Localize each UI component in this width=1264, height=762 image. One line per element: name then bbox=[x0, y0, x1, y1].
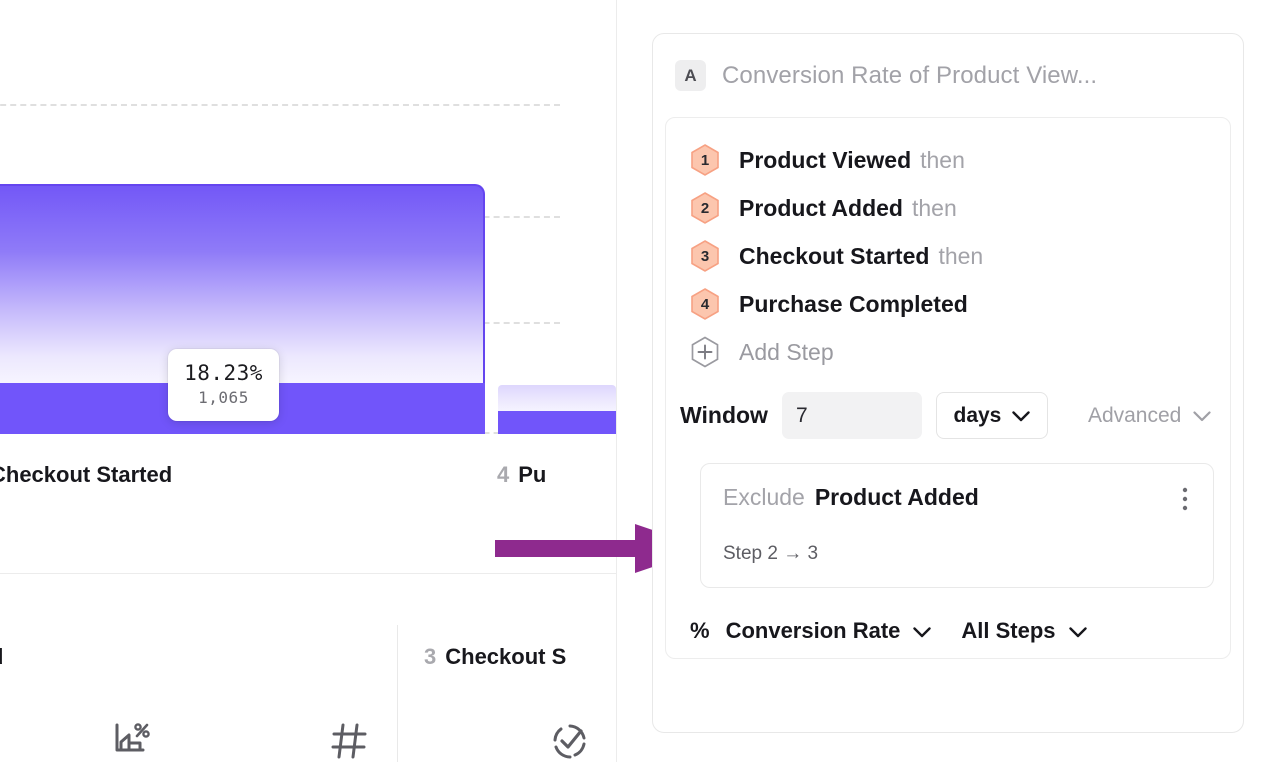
panel-footer-controls: % Conversion Rate All Steps bbox=[666, 588, 1230, 644]
funnel-step-3[interactable]: 3 Checkout Startedthen bbox=[666, 232, 1230, 280]
advanced-label: Advanced bbox=[1088, 404, 1181, 428]
panel-header: A Conversion Rate of Product View... bbox=[653, 34, 1243, 91]
metric-label: Conversion Rate bbox=[726, 618, 901, 644]
bottom-right-step-number: 3 bbox=[424, 644, 436, 669]
step-connector: then bbox=[938, 243, 983, 269]
window-unit-select[interactable]: days bbox=[936, 392, 1048, 439]
add-step-label: Add Step bbox=[739, 339, 834, 366]
step-label: Product Addedthen bbox=[739, 195, 957, 222]
hexagon-plus-icon bbox=[688, 335, 722, 369]
hexagon-step-number-icon: 4 bbox=[688, 287, 722, 321]
bottom-right-label: 3Checkout S bbox=[424, 644, 566, 670]
step-event-name: Product Viewed bbox=[739, 147, 911, 173]
funnel-step-4[interactable]: 4 Purchase Completed bbox=[666, 280, 1230, 328]
step-number: 4 bbox=[701, 297, 709, 312]
chevron-down-icon bbox=[1012, 404, 1030, 428]
step-event-name: Product Added bbox=[739, 195, 903, 221]
gridline-1 bbox=[0, 104, 560, 106]
funnel-step-2[interactable]: 2 Product Addedthen bbox=[666, 184, 1230, 232]
hexagon-step-number-icon: 3 bbox=[688, 239, 722, 273]
bar-gradient-body bbox=[498, 385, 616, 412]
exclude-event-name: Product Added bbox=[815, 484, 979, 511]
funnel-chart-region: 18.23% 1,065 Checkout Started 4Pu d 3Che… bbox=[0, 0, 616, 762]
step-number: 1 bbox=[701, 153, 709, 168]
funnel-bar-purchase-completed[interactable] bbox=[498, 385, 616, 434]
funnel-percent-icon[interactable] bbox=[108, 720, 152, 762]
hash-icon[interactable] bbox=[328, 720, 370, 762]
conversion-window-row: Window days Advanced bbox=[666, 376, 1230, 439]
bar-solid-base bbox=[498, 411, 616, 434]
step-number: 2 bbox=[701, 201, 709, 216]
exclude-step-card[interactable]: Exclude Product Added Step 2 → 3 bbox=[700, 463, 1214, 588]
step-number: 3 bbox=[701, 249, 709, 264]
advanced-toggle[interactable]: Advanced bbox=[1088, 404, 1211, 428]
window-label: Window bbox=[680, 402, 768, 429]
scope-label: All Steps bbox=[961, 618, 1055, 644]
chevron-down-icon bbox=[913, 618, 931, 644]
bottom-right-label-text: Checkout S bbox=[445, 644, 566, 669]
query-title[interactable]: Conversion Rate of Product View... bbox=[722, 62, 1097, 90]
axis-label-text: Checkout Started bbox=[0, 462, 172, 487]
axis-label-checkout-started: Checkout Started bbox=[0, 462, 172, 488]
step-label: Purchase Completed bbox=[739, 291, 968, 318]
window-value-input[interactable] bbox=[782, 392, 922, 439]
step-label: Checkout Startedthen bbox=[739, 243, 983, 270]
window-unit-label: days bbox=[954, 404, 1002, 428]
overflow-menu-icon[interactable] bbox=[1175, 484, 1195, 521]
axis-label-purchase-completed: 4Pu bbox=[497, 462, 546, 488]
check-circle-dashed-icon[interactable] bbox=[548, 720, 592, 762]
hexagon-step-number-icon: 1 bbox=[688, 143, 722, 177]
exclude-card-header: Exclude Product Added bbox=[723, 484, 1195, 521]
axis-step-number: 4 bbox=[497, 462, 509, 487]
metric-select[interactable]: Conversion Rate bbox=[726, 618, 932, 644]
step-event-name: Checkout Started bbox=[739, 243, 929, 269]
step-label: Product Viewedthen bbox=[739, 147, 965, 174]
chart-tooltip: 18.23% 1,065 bbox=[168, 349, 279, 421]
exclude-prefix-label: Exclude bbox=[723, 484, 805, 511]
axis-label-text: Pu bbox=[518, 462, 546, 487]
exclude-step-range: Step 2 → 3 bbox=[723, 543, 1195, 565]
main-vertical-divider bbox=[616, 0, 617, 762]
step-event-name: Purchase Completed bbox=[739, 291, 968, 317]
chevron-down-icon bbox=[1069, 618, 1087, 644]
percent-icon: % bbox=[690, 618, 710, 644]
add-step-button[interactable]: Add Step bbox=[666, 328, 1230, 376]
funnel-step-1[interactable]: 1 Product Viewedthen bbox=[666, 136, 1230, 184]
query-letter-badge: A bbox=[675, 60, 706, 91]
step-connector: then bbox=[912, 195, 957, 221]
step-connector: then bbox=[920, 147, 965, 173]
chevron-down-icon bbox=[1193, 404, 1211, 428]
tooltip-count: 1,065 bbox=[198, 386, 249, 410]
tooltip-percent: 18.23% bbox=[184, 360, 263, 386]
funnel-steps-card: 1 Product Viewedthen 2 Product Addedthen bbox=[665, 117, 1231, 659]
scope-select[interactable]: All Steps bbox=[961, 618, 1086, 644]
query-builder-panel: A Conversion Rate of Product View... 1 P… bbox=[652, 33, 1244, 733]
hexagon-step-number-icon: 2 bbox=[688, 191, 722, 225]
screen-root: 18.23% 1,065 Checkout Started 4Pu d 3Che… bbox=[0, 0, 1264, 762]
bottom-panel-divider bbox=[397, 625, 398, 762]
bottom-left-label: d bbox=[0, 644, 3, 670]
